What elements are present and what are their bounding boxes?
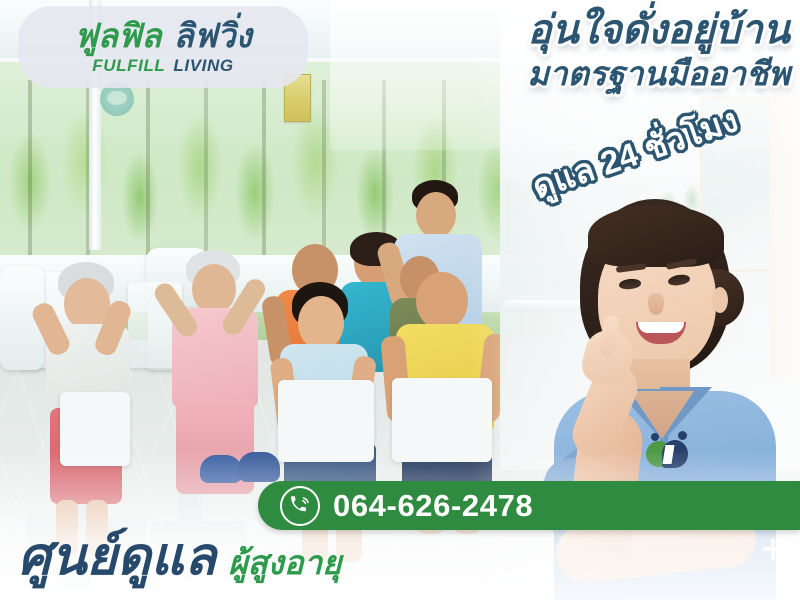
phone-number: 064-626-2478 — [333, 488, 533, 524]
plastic-chair — [392, 378, 492, 462]
brand-logo-english: FULFILLLIVING — [92, 56, 233, 76]
promotional-banner: FULFILL LIVING ฟูลฟิลลิฟวิ่ง FULFILLLIVI… — [0, 0, 800, 600]
plastic-chair — [278, 380, 374, 462]
clog-shoe — [200, 455, 242, 483]
clog-shoe — [238, 452, 280, 482]
headline-block: อุ่นใจดั่งอยู่บ้าน มาตรฐานมืออาชีพ — [340, 10, 790, 90]
nurse-nose — [648, 293, 664, 315]
uniform-logo-icon — [642, 431, 700, 477]
nurse-figure: FULFILL LIVING — [520, 195, 800, 600]
footer-title-main: ศูนย์ดูแล — [18, 531, 216, 583]
footer-title: ศูนย์ดูแล ผู้สูงอายุ — [18, 531, 341, 583]
headline-line-2: มาตรฐานมืออาชีพ — [340, 57, 790, 90]
brand-logo-thai-blue: ลิฟวิ่ง — [173, 17, 251, 54]
brand-logo-en-green: FULFILL — [92, 56, 165, 75]
brand-logo-en-blue: LIVING — [173, 56, 233, 75]
brand-logo-thai: ฟูลฟิลลิฟวิ่ง — [74, 19, 251, 52]
brand-logo-thai-green: ฟูลฟิล — [74, 17, 161, 54]
nurse-hair-front — [588, 205, 724, 267]
brand-logo[interactable]: ฟูลฟิลลิฟวิ่ง FULFILLLIVING — [18, 6, 308, 88]
nurse-ear — [712, 287, 728, 313]
plastic-chair — [60, 392, 130, 466]
footer-title-sub: ผู้สูงอายุ — [228, 546, 341, 579]
phone-contact-bar[interactable]: 064-626-2478 — [258, 481, 800, 530]
headline-line-1: อุ่นใจดั่งอยู่บ้าน — [340, 10, 790, 50]
ringing-phone-icon — [280, 486, 320, 526]
sparkle-icon — [762, 538, 784, 560]
